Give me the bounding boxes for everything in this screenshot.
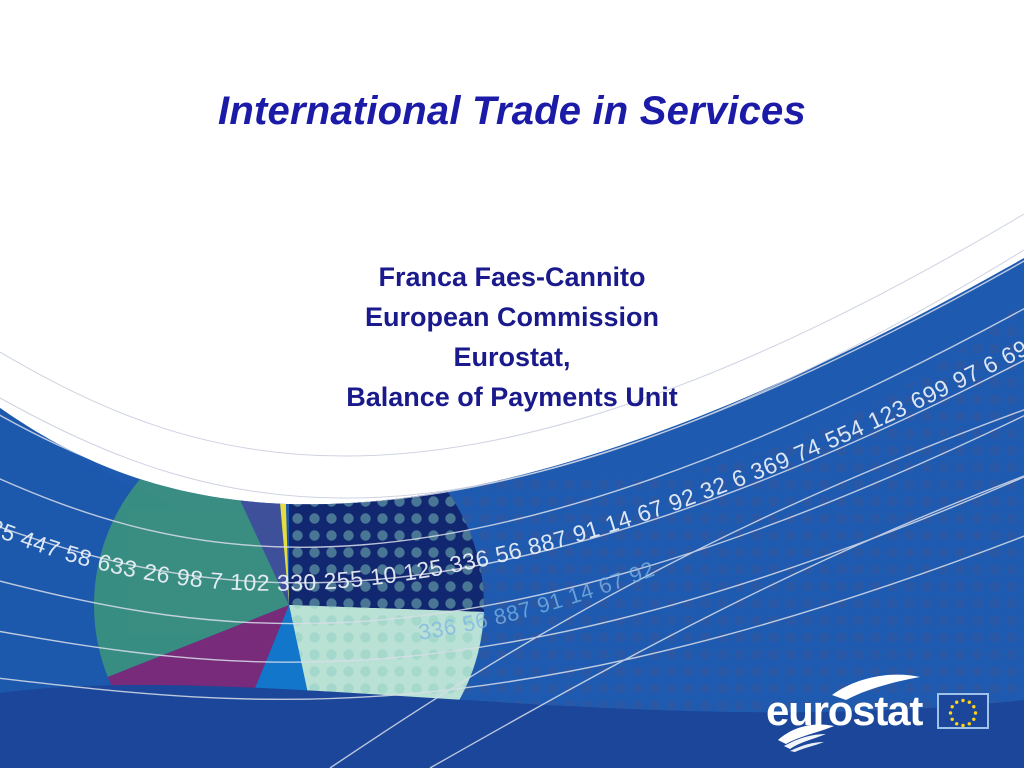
author-name: Franca Faes-Cannito <box>0 257 1024 297</box>
pie-slice-navy <box>289 410 484 612</box>
pie-slice-yellow <box>272 410 289 605</box>
eu-flag <box>938 694 988 728</box>
presentation-slide: 125 447 58 633 26 98 7 102 330 255 10 12… <box>0 0 1024 768</box>
pie-slice-purple <box>100 605 289 768</box>
pie-slice-periwinkle <box>207 411 289 605</box>
background-numbers-inner: 336 56 887 91 14 67 92 <box>417 556 658 645</box>
pie-slice-teal <box>87 429 289 680</box>
title-block: International Trade in Services <box>0 88 1024 134</box>
department-name: Eurostat, <box>0 337 1024 377</box>
unit-name: Balance of Payments Unit <box>0 377 1024 417</box>
eurostat-logo: eurostat <box>760 672 1000 752</box>
eurostat-wordmark: eurostat <box>766 690 922 732</box>
subtitle-block: Franca Faes-Cannito European Commission … <box>0 257 1024 417</box>
pie-slice-blue <box>215 605 330 768</box>
background-numbers-inner-text: 336 56 887 91 14 67 92 <box>417 556 658 645</box>
pie-slice-mint-lower <box>289 605 484 768</box>
organisation-name: European Commission <box>0 297 1024 337</box>
decorative-pie-chart <box>87 399 551 768</box>
pie-slice-mint <box>289 399 551 768</box>
white-content-area <box>0 0 1024 500</box>
page-title: International Trade in Services <box>0 88 1024 134</box>
